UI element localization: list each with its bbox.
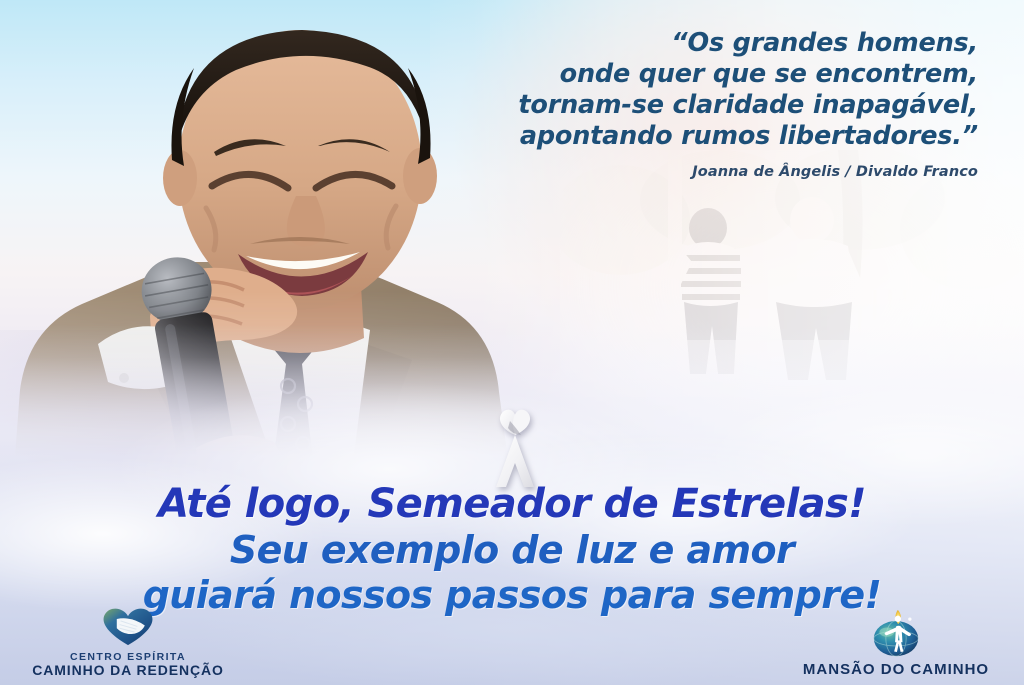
- quote-block: “Os grandes homens, onde quer que se enc…: [418, 28, 978, 180]
- heart-with-hand-icon: [98, 604, 158, 652]
- quote-attribution: Joanna de Ângelis / Divaldo Franco: [418, 164, 978, 180]
- logo-centro-espirita-caminho-da-redencao[interactable]: CENTRO ESPÍRITA CAMINHO DA REDENÇÃO: [8, 604, 248, 679]
- memorial-poster: “Os grandes homens, onde quer que se enc…: [0, 0, 1024, 685]
- headline-line-1: Até logo, Semeador de Estrelas!: [0, 484, 1024, 524]
- white-mourning-ribbon-icon: [482, 405, 548, 489]
- quote-line-4: apontando rumos libertadores.”: [418, 121, 978, 152]
- headline-block: Até logo, Semeador de Estrelas! Seu exem…: [0, 484, 1024, 614]
- quote-line-3: tornam-se claridade inapagável,: [418, 90, 978, 121]
- quote-line-1: “Os grandes homens,: [418, 28, 978, 59]
- logo-right-line2: MANSÃO DO CAMINHO: [803, 662, 989, 679]
- logo-left-text: CENTRO ESPÍRITA CAMINHO DA REDENÇÃO: [32, 652, 224, 679]
- quote-line-2: onde quer que se encontrem,: [418, 59, 978, 90]
- globe-with-figure-and-flame-icon: [868, 609, 924, 662]
- logo-left-line2: CAMINHO DA REDENÇÃO: [32, 663, 224, 679]
- logo-mansao-do-caminho[interactable]: MANSÃO DO CAMINHO: [776, 609, 1016, 679]
- headline-line-2: Seu exemplo de luz e amor: [0, 531, 1024, 569]
- logo-right-text: MANSÃO DO CAMINHO: [803, 662, 989, 679]
